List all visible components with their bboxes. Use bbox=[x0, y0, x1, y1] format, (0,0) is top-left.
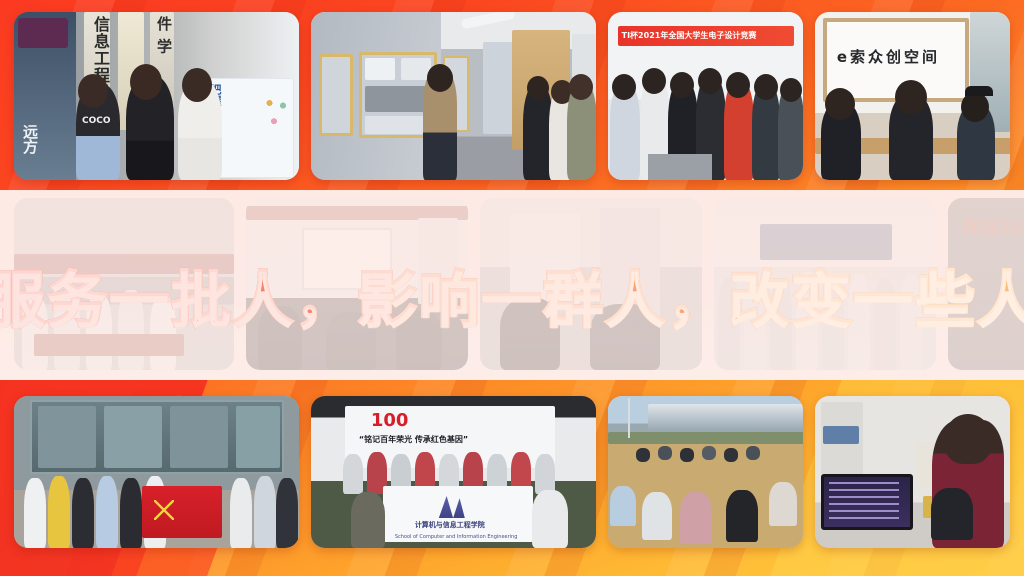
photo-outdoor-discussion bbox=[608, 396, 803, 548]
poster-canvas: 远方 信息工程学院 件 学 把握青春 功底扎实 COCO bbox=[0, 0, 1024, 576]
photo1-shirt-text: COCO bbox=[82, 116, 111, 126]
hammer-sickle-emblem bbox=[154, 500, 174, 520]
photo-red-culture-event: 100 “铭记百年荣光 传承红色基因” 计算机与信息工程学院 School of… bbox=[311, 396, 596, 548]
school-banner-text-en: School of Computer and Information Engin… bbox=[395, 534, 518, 540]
top-photo-row: 远方 信息工程学院 件 学 把握青春 功底扎实 COCO bbox=[14, 12, 1010, 180]
photo-lab-coding bbox=[815, 396, 1010, 548]
bottom-photo-row: 100 “铭记百年荣光 传承红色基因” 计算机与信息工程学院 School of… bbox=[14, 396, 1010, 548]
event-screen-text: “铭记百年荣光 传承红色基因” bbox=[359, 434, 468, 445]
photo-concert-stage-text: 辉煌100 记忆留影 bbox=[962, 214, 1024, 240]
photo-corridor-exhibition bbox=[311, 12, 596, 180]
photo-students-college-entrance: 远方 信息工程学院 件 学 把握青春 功底扎实 COCO bbox=[14, 12, 299, 180]
photo1-side-text: 远方 bbox=[20, 124, 41, 154]
photo-party-flag-group bbox=[14, 396, 299, 548]
poster-headline: 服务一批人，影响一群人，改变一些人 bbox=[0, 258, 1024, 332]
event-screen-number: 100 bbox=[371, 410, 409, 431]
school-banner-text-zh: 计算机与信息工程学院 bbox=[415, 520, 485, 530]
photo3-banner-text: TI杯2021年全国大学生电子设计竞赛 bbox=[622, 30, 757, 41]
photo-ti-cup-competition: TI杯2021年全国大学生电子设计竞赛 bbox=[608, 12, 803, 180]
photo4-sign-text: e索众创空间 bbox=[837, 46, 940, 67]
photo1-sign-text-2: 件 学 bbox=[154, 16, 175, 54]
photo-maker-space: e索众创空间 bbox=[815, 12, 1010, 180]
